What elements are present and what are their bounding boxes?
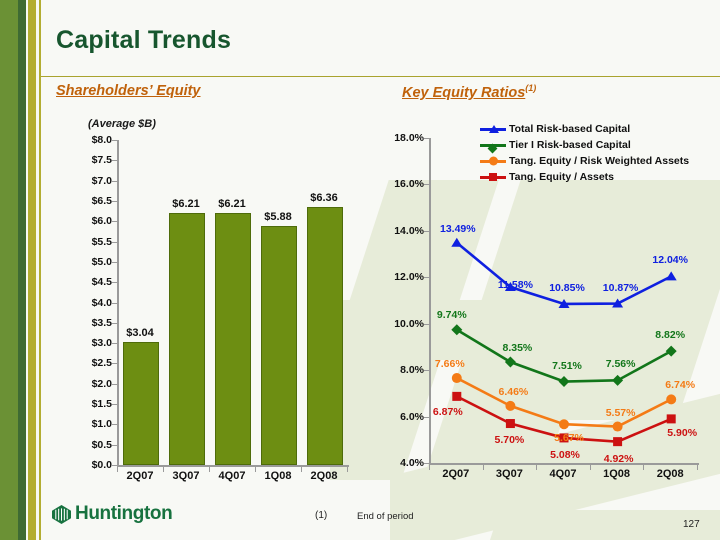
bar-chart-y-tick xyxy=(112,221,117,222)
section-heading-key-equity-ratios: Key Equity Ratios(1) xyxy=(402,83,536,101)
line-chart-data-point[interactable] xyxy=(666,271,677,280)
bar-chart-y-tick-label: $2.5 xyxy=(56,357,112,369)
header-divider xyxy=(41,76,720,77)
line-chart-y-tick-label: 16.0% xyxy=(372,178,424,190)
line-chart-x-tick xyxy=(429,465,430,470)
bar-chart-y-tick-label: $7.5 xyxy=(56,154,112,166)
line-chart-value-label: 10.87% xyxy=(603,282,639,294)
line-chart-data-point[interactable] xyxy=(612,375,623,386)
line-chart-x-tick-label: 2Q07 xyxy=(442,468,469,480)
bar-chart-y-tick xyxy=(112,465,117,466)
bar-chart-y-tick xyxy=(112,242,117,243)
footnote-text: End of period xyxy=(357,511,414,522)
line-chart-y-tick xyxy=(424,417,429,418)
bar-chart-y-tick-label: $3.0 xyxy=(56,337,112,349)
line-chart-data-point[interactable] xyxy=(666,346,677,357)
line-chart-series-line xyxy=(457,243,671,304)
line-chart-value-label: 4.92% xyxy=(604,453,634,465)
line-chart-data-point[interactable] xyxy=(559,376,570,387)
line-chart-data-point[interactable] xyxy=(666,394,676,404)
line-chart-value-label: 6.87% xyxy=(433,406,463,418)
bar-chart-x-tick-label: 4Q07 xyxy=(219,470,246,482)
bar-chart-plot-area xyxy=(118,140,348,465)
line-chart-x-tick xyxy=(483,465,484,470)
bar-chart-y-tick-label: $6.5 xyxy=(56,195,112,207)
bar-chart-y-tick xyxy=(112,343,117,344)
key-equity-ratios-line-chart: Total Risk-based CapitalTier I Risk-base… xyxy=(372,118,712,478)
line-chart-y-tick-label: 10.0% xyxy=(372,318,424,330)
line-chart-plot-area xyxy=(430,138,698,463)
line-chart-x-tick-label: 3Q07 xyxy=(496,468,523,480)
line-chart-x-tick-label: 2Q08 xyxy=(657,468,684,480)
page-number: 127 xyxy=(683,519,700,530)
line-chart-value-label: 5.90% xyxy=(667,427,697,439)
bar-chart-value-label: $6.21 xyxy=(172,198,200,210)
stripe-green-dark xyxy=(18,0,26,540)
line-chart-x-tick-label: 1Q08 xyxy=(603,468,630,480)
bar-chart-y-tick-label: $6.0 xyxy=(56,215,112,227)
line-chart-value-label: 5.57% xyxy=(606,407,636,419)
bar-chart-x-tick xyxy=(347,467,348,472)
bar-chart-y-tick-label: $8.0 xyxy=(56,134,112,146)
bar-chart-bar[interactable] xyxy=(123,342,159,466)
line-chart-value-label: 8.35% xyxy=(503,342,533,354)
line-chart-value-label: 12.04% xyxy=(652,254,688,266)
bar-chart-x-tick-label: 2Q07 xyxy=(127,470,154,482)
line-chart-y-tick xyxy=(424,463,429,464)
bar-chart-x-tick xyxy=(209,467,210,472)
bar-chart-y-tick xyxy=(112,282,117,283)
bar-chart-y-tick xyxy=(112,201,117,202)
line-chart-y-tick-label: 6.0% xyxy=(372,411,424,423)
line-chart-value-label: 6.74% xyxy=(665,379,695,391)
bar-chart-y-tick xyxy=(112,404,117,405)
line-chart-y-tick-label: 8.0% xyxy=(372,364,424,376)
bar-chart-x-tick xyxy=(301,467,302,472)
line-chart-data-point[interactable] xyxy=(506,419,515,428)
stripe-olive xyxy=(28,0,36,540)
bar-chart-y-tick-label: $2.0 xyxy=(56,378,112,390)
bar-chart-y-tick xyxy=(112,384,117,385)
bar-chart-y-tick xyxy=(112,445,117,446)
line-chart-value-label: 6.46% xyxy=(499,386,529,398)
line-chart-value-label: 10.85% xyxy=(549,282,585,294)
line-chart-y-tick-label: 4.0% xyxy=(372,457,424,469)
line-chart-value-label: 8.82% xyxy=(655,329,685,341)
bar-chart-y-tick xyxy=(112,262,117,263)
slide-canvas: Capital Trends Shareholders’ Equity Key … xyxy=(0,0,720,540)
stripe-green-outer xyxy=(0,0,18,540)
bar-chart-value-label: $3.04 xyxy=(126,327,154,339)
line-chart-y-tick-label: 18.0% xyxy=(372,132,424,144)
line-chart-series-line xyxy=(457,330,671,382)
bar-chart-x-tick-label: 2Q08 xyxy=(311,470,338,482)
line-chart-value-label: 9.74% xyxy=(437,309,467,321)
line-chart-x-tick xyxy=(643,465,644,470)
page-title: Capital Trends xyxy=(56,26,231,55)
bar-chart-y-tick xyxy=(112,303,117,304)
line-chart-data-point[interactable] xyxy=(559,419,569,429)
line-chart-data-point[interactable] xyxy=(613,437,622,446)
bar-chart-y-tick-label: $1.0 xyxy=(56,418,112,430)
bar-chart-x-tick-label: 3Q07 xyxy=(173,470,200,482)
bar-chart-x-tick-label: 1Q08 xyxy=(265,470,292,482)
bar-chart-y-tick-label: $1.5 xyxy=(56,398,112,410)
line-chart-x-axis xyxy=(429,463,699,465)
bar-chart-y-tick-label: $4.5 xyxy=(56,276,112,288)
huntington-logo-text: Huntington xyxy=(75,503,172,525)
footnote-marker: (1) xyxy=(315,510,327,521)
line-chart-value-label: 5.08% xyxy=(550,449,580,461)
bar-chart-x-tick xyxy=(255,467,256,472)
bar-chart-x-tick xyxy=(117,467,118,472)
section-heading-key-equity-ratios-label: Key Equity Ratios xyxy=(402,85,525,101)
bar-chart-y-tick-label: $0.0 xyxy=(56,459,112,471)
line-chart-data-point[interactable] xyxy=(451,324,462,335)
bar-chart-y-tick-label: $5.5 xyxy=(56,236,112,248)
bar-chart-y-tick xyxy=(112,323,117,324)
line-chart-value-label: 11.58% xyxy=(498,279,533,291)
bar-chart-value-label: $5.88 xyxy=(264,211,292,223)
bar-chart-y-tick xyxy=(112,424,117,425)
bar-chart-y-tick-label: $7.0 xyxy=(56,175,112,187)
bar-chart-y-tick-label: $5.0 xyxy=(56,256,112,268)
huntington-mark-icon xyxy=(52,505,71,524)
line-chart-value-label: 13.49% xyxy=(440,223,476,235)
line-chart-x-tick-label: 4Q07 xyxy=(550,468,577,480)
line-chart-y-tick-label: 14.0% xyxy=(372,225,424,237)
line-chart-data-point[interactable] xyxy=(451,238,462,247)
line-chart-value-label: 7.66% xyxy=(435,358,465,370)
bar-chart-y-tick xyxy=(112,181,117,182)
line-chart-value-label: 5.67% xyxy=(554,432,584,444)
line-chart-y-tick xyxy=(424,324,429,325)
line-chart-data-point[interactable] xyxy=(452,392,461,401)
bar-chart-bar[interactable] xyxy=(215,213,251,465)
stripe-olive-thin xyxy=(39,0,41,540)
bar-chart-value-label: $6.36 xyxy=(310,192,338,204)
line-chart-y-tick-label: 12.0% xyxy=(372,271,424,283)
line-chart-y-tick xyxy=(424,184,429,185)
line-chart-y-tick xyxy=(424,231,429,232)
bar-chart-subtitle: (Average $B) xyxy=(88,118,156,130)
line-chart-value-label: 7.56% xyxy=(606,358,636,370)
bar-chart-x-tick xyxy=(163,467,164,472)
line-chart-data-point[interactable] xyxy=(667,414,676,423)
line-chart-data-point[interactable] xyxy=(613,422,623,432)
section-heading-shareholders-equity: Shareholders’ Equity xyxy=(56,83,201,99)
shareholders-equity-bar-chart: (Average $B) $8.0$7.5$7.0$6.5$6.0$5.5$5.… xyxy=(56,118,366,478)
bar-chart-x-axis xyxy=(117,465,349,467)
line-chart-data-point[interactable] xyxy=(452,373,462,383)
line-chart-y-tick xyxy=(424,277,429,278)
line-chart-y-tick xyxy=(424,138,429,139)
huntington-logo: Huntington xyxy=(52,503,172,525)
line-chart-data-point[interactable] xyxy=(505,401,515,411)
bar-chart-y-tick xyxy=(112,363,117,364)
bar-chart-value-label: $6.21 xyxy=(218,198,246,210)
line-chart-value-label: 7.51% xyxy=(552,360,582,372)
bar-chart-y-tick-label: $0.5 xyxy=(56,439,112,451)
bar-chart-y-tick xyxy=(112,140,117,141)
footnote-superscript: (1) xyxy=(525,83,536,93)
line-chart-data-point[interactable] xyxy=(505,357,516,368)
bar-chart-bar[interactable] xyxy=(307,207,343,465)
line-chart-x-tick xyxy=(697,465,698,470)
bar-chart-y-tick xyxy=(112,160,117,161)
line-chart-value-label: 5.70% xyxy=(495,434,525,446)
bar-chart-bar[interactable] xyxy=(261,226,297,465)
bar-chart-bar[interactable] xyxy=(169,213,205,465)
line-chart-x-tick xyxy=(590,465,591,470)
bar-chart-y-tick-label: $3.5 xyxy=(56,317,112,329)
bar-chart-y-tick-label: $4.0 xyxy=(56,297,112,309)
line-chart-y-tick xyxy=(424,370,429,371)
line-chart-x-tick xyxy=(536,465,537,470)
